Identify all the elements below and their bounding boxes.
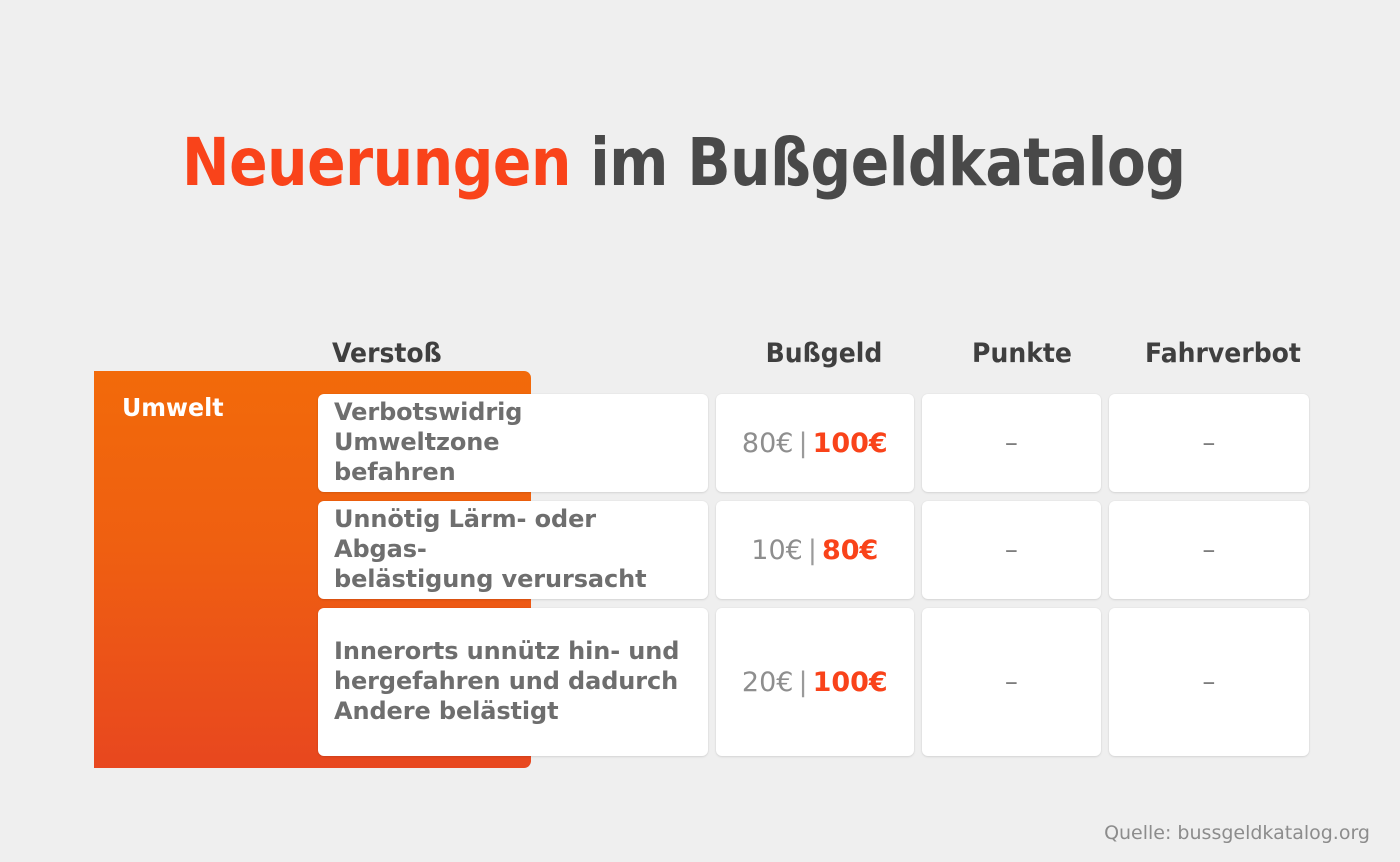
category-label: Umwelt [122,393,224,422]
column-header-ban: Fahrverbot [1125,336,1320,372]
fine-new-value: 80€ [822,535,878,566]
points-cell: – [922,501,1101,599]
violation-cell: Innerorts unnütz hin- und hergefahren un… [318,608,708,756]
page-title-rest: im Bußgeldkatalog [571,124,1186,201]
fine-separator: | [793,428,812,459]
violation-line: belästigung verursacht [334,565,692,595]
fine-table: Verstoß Bußgeld Punkte Fahrverbot Umwelt… [94,336,1309,771]
fine-old-value: 80€ [742,428,794,459]
page-title-accent: Neuerungen [182,124,571,201]
violation-line: Verbotswidrig Umweltzone [334,398,692,458]
violation-line: Unnötig Lärm- oder Abgas- [334,505,692,565]
fine-new-value: 100€ [813,428,888,459]
violation-line: befahren [334,458,692,488]
column-header-fine: Bußgeld [729,336,919,372]
page-title: Neuerungen im Bußgeldkatalog [182,130,1186,196]
violation-line: Andere belästigt [334,697,679,727]
violation-line: hergefahren und dadurch [334,667,679,697]
table-header-row: Verstoß Bußgeld Punkte Fahrverbot [94,336,1309,372]
source-attribution: Quelle: bussgeldkatalog.org [1104,822,1370,844]
fine-separator: | [793,667,812,698]
ban-cell: – [1109,608,1309,756]
table-row: Unnötig Lärm- oder Abgas- belästigung ve… [318,501,1309,599]
column-header-points: Punkte [936,336,1107,372]
table-row: Verbotswidrig Umweltzone befahren 80€ | … [318,394,1309,492]
violation-line: Innerorts unnütz hin- und [334,637,679,667]
points-cell: – [922,608,1101,756]
points-cell: – [922,394,1101,492]
fine-cell: 80€ | 100€ [716,394,914,492]
fine-cell: 20€ | 100€ [716,608,914,756]
fine-new-value: 100€ [813,667,888,698]
violation-cell: Unnötig Lärm- oder Abgas- belästigung ve… [318,501,708,599]
fine-old-value: 20€ [742,667,794,698]
violation-cell: Verbotswidrig Umweltzone befahren [318,394,708,492]
fine-cell: 10€ | 80€ [716,501,914,599]
table-body: Verbotswidrig Umweltzone befahren 80€ | … [318,394,1309,765]
column-header-violation: Verstoß [332,336,704,372]
fine-old-value: 10€ [751,535,803,566]
ban-cell: – [1109,501,1309,599]
table-row: Innerorts unnütz hin- und hergefahren un… [318,608,1309,756]
ban-cell: – [1109,394,1309,492]
fine-separator: | [803,535,822,566]
